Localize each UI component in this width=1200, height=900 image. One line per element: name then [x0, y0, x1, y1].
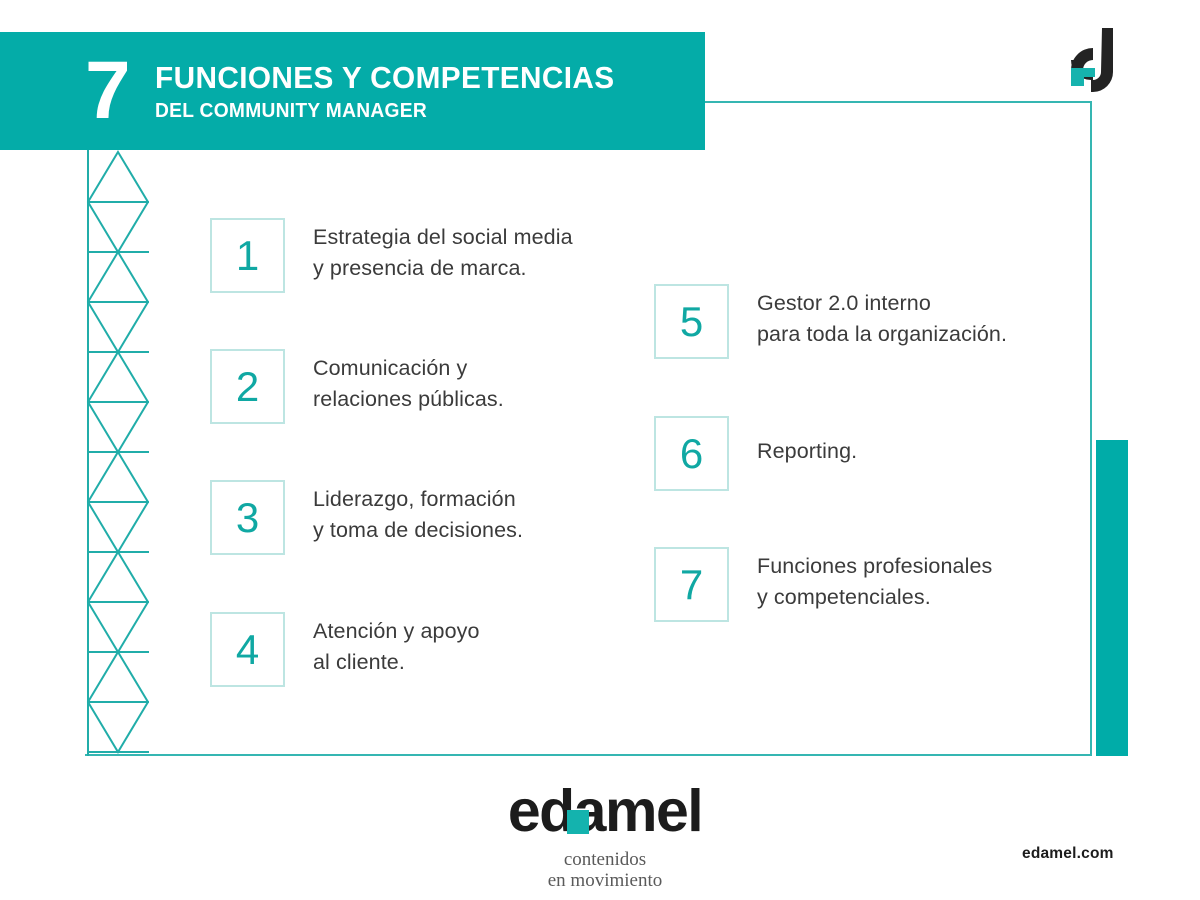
item-label: Comunicación y relaciones públicas. [313, 349, 504, 414]
diamond-lattice-pattern [85, 150, 149, 756]
page-subtitle: DEL COMMUNITY MANAGER [155, 99, 615, 123]
list-item: 1 Estrategia del social media y presenci… [210, 218, 573, 293]
item-number: 3 [236, 497, 259, 539]
list-item: 7 Funciones profesionales y competencial… [654, 547, 992, 622]
wordmark-accent-square-icon [567, 810, 589, 834]
item-number-box: 3 [210, 480, 285, 555]
header-number: 7 [85, 50, 129, 132]
list-item: 5 Gestor 2.0 interno para toda la organi… [654, 284, 1007, 359]
edamel-d-monogram-icon [1062, 28, 1124, 92]
item-number-box: 4 [210, 612, 285, 687]
item-number: 1 [236, 235, 259, 277]
frame-top-line [705, 101, 1092, 103]
brand-wordmark-text: edamel [508, 778, 702, 844]
item-label: Reporting. [757, 416, 857, 467]
list-item: 2 Comunicación y relaciones públicas. [210, 349, 504, 424]
brand-tagline: contenidos en movimiento [500, 849, 710, 892]
item-number-box: 1 [210, 218, 285, 293]
item-number-box: 6 [654, 416, 729, 491]
item-number: 6 [680, 433, 703, 475]
frame-bottom-line [85, 754, 1092, 756]
item-number-box: 2 [210, 349, 285, 424]
item-label: Atención y apoyo al cliente. [313, 612, 480, 677]
item-number-box: 7 [654, 547, 729, 622]
item-label: Estrategia del social media y presencia … [313, 218, 573, 283]
page-title: FUNCIONES Y COMPETENCIAS [155, 61, 615, 94]
item-number: 2 [236, 366, 259, 408]
header-band: 7 FUNCIONES Y COMPETENCIAS DEL COMMUNITY… [0, 32, 705, 150]
frame-right-line [1090, 101, 1092, 756]
accent-bar [1096, 440, 1128, 756]
header-text-block: FUNCIONES Y COMPETENCIAS DEL COMMUNITY M… [155, 61, 634, 123]
item-number: 7 [680, 564, 703, 606]
item-label: Gestor 2.0 interno para toda la organiza… [757, 284, 1007, 349]
list-item: 6 Reporting. [654, 416, 857, 491]
infographic-canvas: 7 FUNCIONES Y COMPETENCIAS DEL COMMUNITY… [0, 0, 1200, 900]
item-label: Liderazgo, formación y toma de decisione… [313, 480, 523, 545]
brand-wordmark: edamel [500, 782, 710, 841]
footer-logo: edamel contenidos en movimiento [500, 782, 710, 892]
site-url[interactable]: edamel.com [1022, 845, 1114, 863]
list-item: 4 Atención y apoyo al cliente. [210, 612, 480, 687]
item-number: 4 [236, 629, 259, 671]
item-label: Funciones profesionales y competenciales… [757, 547, 992, 612]
item-number-box: 5 [654, 284, 729, 359]
list-item: 3 Liderazgo, formación y toma de decisio… [210, 480, 523, 555]
item-number: 5 [680, 301, 703, 343]
